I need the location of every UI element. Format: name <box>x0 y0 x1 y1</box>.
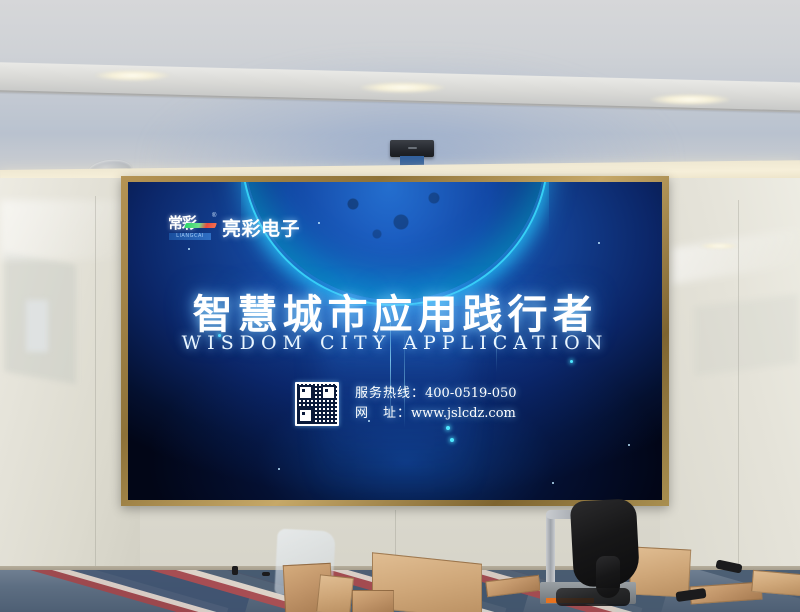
logo-swoosh-icon <box>184 223 217 228</box>
cardboard-debris <box>751 570 800 596</box>
qr-eye <box>298 408 313 423</box>
hotline-value: 400-0519-050 <box>425 386 517 401</box>
star-particle <box>278 468 280 470</box>
website-value[interactable]: www.jslcdz.com <box>411 406 516 421</box>
cardboard-box <box>316 574 354 612</box>
wall-panel-seam <box>95 196 96 568</box>
star-particle <box>446 426 450 430</box>
brand-logo: 常彩 LIANGCAI ® 亮彩电子 <box>168 214 300 241</box>
star-particle <box>598 242 600 244</box>
website-label: 网 址： <box>355 406 411 421</box>
star-particle <box>552 482 554 484</box>
hotline-label: 服务热线： <box>355 386 425 401</box>
wall-reflection <box>26 300 48 352</box>
led-screen[interactable]: 常彩 LIANGCAI ® 亮彩电子 智慧城市应用践行者 WISDOM CITY… <box>128 182 662 500</box>
wall-panel-seam <box>738 200 739 568</box>
recessed-downlight <box>360 82 445 93</box>
star-particle <box>450 438 454 442</box>
contact-block: 服务热线：400-0519-050 网 址：www.jslcdz.com <box>295 382 517 426</box>
recessed-downlight <box>650 94 730 105</box>
floor-debris <box>232 566 238 575</box>
headline-english: WISDOM CITY APPLICATION <box>128 332 662 354</box>
website-row: 网 址：www.jslcdz.com <box>355 404 517 424</box>
logo-pinyin-bar: LIANGCAI <box>169 233 211 240</box>
logo-mark-icon: 常彩 LIANGCAI ® <box>168 215 216 241</box>
photo-scene: 常彩 LIANGCAI ® 亮彩电子 智慧城市应用践行者 WISDOM CITY… <box>0 0 800 612</box>
qr-code-icon[interactable] <box>295 382 339 426</box>
star-particle <box>628 444 630 446</box>
hotline-row: 服务热线：400-0519-050 <box>355 384 517 404</box>
registered-mark-icon: ® <box>212 213 216 219</box>
wall-gloss-highlight <box>0 200 130 260</box>
recessed-downlight <box>95 70 170 81</box>
qr-eye <box>321 385 336 400</box>
star-particle <box>318 222 320 224</box>
logo-wordmark: 亮彩电子 <box>222 214 300 241</box>
wall-reflected-light <box>700 243 738 249</box>
qr-eye <box>298 385 313 400</box>
qr-code-pattern <box>297 384 337 424</box>
star-particle <box>188 248 190 250</box>
contact-text: 服务热线：400-0519-050 网 址：www.jslcdz.com <box>355 384 517 424</box>
star-particle <box>570 360 573 363</box>
wall-reflection <box>694 294 798 377</box>
floor-debris <box>262 572 270 576</box>
cardboard-box <box>352 590 394 612</box>
projector-vent <box>408 147 417 149</box>
projector-body <box>390 140 434 157</box>
led-screen-frame: 常彩 LIANGCAI ® 亮彩电子 智慧城市应用践行者 WISDOM CITY… <box>121 176 669 506</box>
black-jacket-shadow <box>556 588 630 606</box>
